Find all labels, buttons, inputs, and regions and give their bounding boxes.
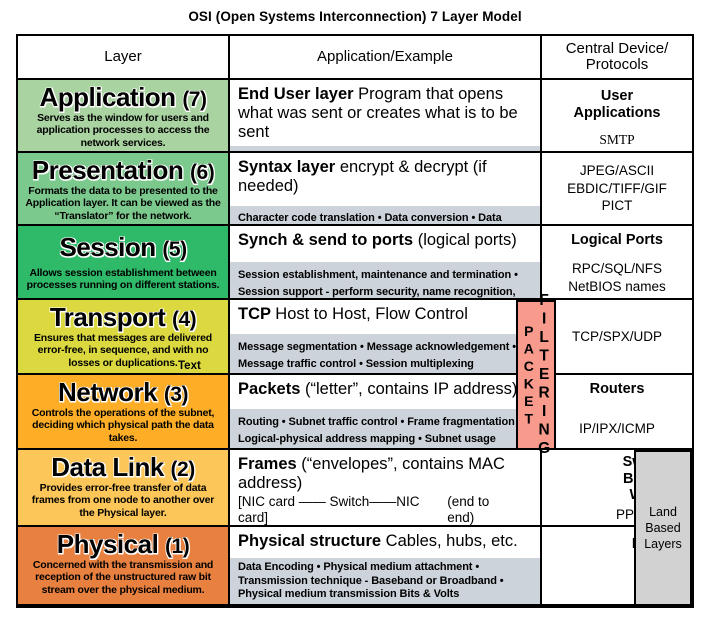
application-cell-physical: Physical structure Cables, hubs, etc. Da…: [230, 527, 542, 604]
layer-number-session: (5): [162, 238, 186, 261]
layer-name-application: Application: [40, 82, 176, 112]
application-head-session: Synch & send to ports (logical ports): [230, 226, 540, 262]
layer-row-presentation: Presentation (6) Formats the data to be …: [18, 153, 692, 226]
layer-name-session: Session: [59, 232, 155, 262]
land-based-layers-text: Land Based Layers: [644, 504, 682, 553]
layer-cell-physical: Physical (1) Concerned with the transmis…: [18, 527, 230, 604]
application-cell-presentation: Syntax layer encrypt & decrypt (if neede…: [230, 153, 542, 224]
header-cell-application: Application/Example: [230, 36, 542, 78]
device-main-application: User Applications: [542, 80, 692, 122]
application-subline-datalink: [NIC card —— Switch——NIC card] (end to e…: [230, 494, 540, 525]
device-main-network: Routers: [542, 375, 692, 398]
application-head-physical: Physical structure Cables, hubs, etc.: [230, 527, 540, 558]
land-based-line2: Based: [644, 520, 682, 536]
layer-row-network: Network (3) Controls the operations of t…: [18, 375, 692, 450]
application-detail-session: Session establishment, maintenance and t…: [230, 262, 540, 298]
layer-description-network: Controls the operations of the subnet, d…: [18, 405, 228, 444]
application-head-application: End User layer Program that opens what w…: [230, 80, 540, 146]
application-detail-text: Character code translation • Data conver…: [238, 212, 502, 224]
layer-title-physical: Physical (1): [18, 527, 228, 557]
layer-cell-application: Application (7) Serves as the window for…: [18, 80, 230, 151]
header-label-device-line1: Central Device/: [566, 41, 669, 58]
page-title: OSI (Open Systems Interconnection) 7 Lay…: [0, 0, 710, 31]
application-head-bold: Physical structure: [238, 532, 381, 550]
layer-description-presentation: Formats the data to be presented to the …: [18, 183, 228, 222]
layer-title-session: Session (5): [18, 226, 228, 260]
application-detail-presentation: Character code translation • Data conver…: [230, 206, 540, 224]
land-based-line3: Layers: [644, 536, 682, 552]
layer-title-network: Network (3): [18, 375, 228, 405]
device-line-1: TCP/SPX/UDP: [572, 328, 662, 346]
layer-row-datalink: Data Link (2) Provides error-free transf…: [18, 450, 692, 527]
layer-name-presentation: Presentation: [32, 155, 184, 185]
land-based-layers-box: Land Based Layers: [634, 450, 692, 606]
layer-number-physical: (1): [165, 535, 189, 558]
device-sub-network: IP/IPX/ICMP: [542, 398, 692, 438]
application-head-light: (logical ports): [418, 231, 517, 249]
device-cell-session: Logical Ports RPC/SQL/NFS NetBIOS names: [542, 226, 692, 298]
device-cell-network: Routers IP/IPX/ICMP: [542, 375, 692, 448]
table-header-row: Layer Application/Example Central Device…: [18, 36, 692, 80]
device-line-2: EBDIC/TIFF/GIF: [567, 180, 667, 198]
layer-number-network: (3): [164, 383, 188, 406]
layer-name-transport: Transport: [50, 302, 165, 332]
device-sub-application: SMTP: [542, 122, 692, 149]
layer-name-datalink: Data Link: [51, 452, 164, 482]
layer-title-application: Application (7): [18, 80, 228, 110]
header-label-application: Application/Example: [317, 49, 453, 66]
application-head-bold: Syntax layer: [238, 158, 335, 176]
layer-name-physical: Physical: [57, 529, 159, 559]
layer-title-presentation: Presentation (6): [18, 153, 228, 183]
layer-row-transport: Transport (4) Ensures that messages are …: [18, 300, 692, 375]
packet-filtering-box: PACKET FILTERING: [516, 300, 556, 450]
layer-description-datalink: Provides error-free transfer of data fra…: [18, 480, 228, 519]
layer-number-presentation: (6): [190, 161, 214, 184]
osi-layer-table: Layer Application/Example Central Device…: [16, 34, 694, 608]
device-sub-session: RPC/SQL/NFS NetBIOS names: [542, 249, 692, 296]
application-detail-network: Routing • Subnet traffic control • Frame…: [230, 409, 540, 448]
land-based-line1: Land: [644, 504, 682, 520]
application-cell-network: Packets (“letter”, contains IP address) …: [230, 375, 542, 448]
application-cell-session: Synch & send to ports (logical ports) Se…: [230, 226, 542, 298]
device-cell-application: User Applications SMTP: [542, 80, 692, 151]
layer-description-physical: Concerned with the transmission and rece…: [18, 557, 228, 596]
device-cell-transport: TCP/SPX/UDP: [542, 300, 692, 373]
layer-cell-network: Network (3) Controls the operations of t…: [18, 375, 230, 448]
device-line-2: NetBIOS names: [542, 278, 692, 296]
device-main-line2: Applications: [542, 105, 692, 122]
layer-row-session: Session (5) Allows session establishment…: [18, 226, 692, 300]
application-head-bold: TCP: [238, 305, 271, 323]
application-detail-physical: Data Encoding • Physical medium attachme…: [230, 558, 540, 604]
packet-filtering-word-filtering: FILTERING: [536, 292, 551, 459]
device-line-1: RPC/SQL/NFS: [542, 260, 692, 278]
device-line-1: JPEG/ASCII: [580, 162, 654, 180]
application-detail-application: Resource sharing • Remote file access • …: [230, 146, 540, 151]
header-label-layer: Layer: [104, 49, 142, 66]
header-cell-layer: Layer: [18, 36, 230, 78]
application-cell-datalink: Frames (“envelopes”, contains MAC addres…: [230, 450, 542, 525]
application-cell-application: End User layer Program that opens what w…: [230, 80, 542, 151]
device-main-session: Logical Ports: [542, 226, 692, 249]
application-detail-transport: Message segmentation • Message acknowled…: [230, 334, 540, 373]
device-line-3: PICT: [602, 197, 633, 215]
layer-number-datalink: (2): [171, 458, 195, 481]
application-subline-right: (end to end): [447, 494, 518, 525]
layer-cell-presentation: Presentation (6) Formats the data to be …: [18, 153, 230, 224]
header-cell-device: Central Device/ Protocols: [542, 36, 692, 78]
application-head-transport: TCP Host to Host, Flow Control: [230, 300, 540, 334]
header-label-device-line2: Protocols: [566, 57, 669, 74]
application-head-presentation: Syntax layer encrypt & decrypt (if neede…: [230, 153, 540, 206]
layer-number-application: (7): [182, 88, 206, 111]
stray-text-artifact: Text: [178, 360, 201, 372]
application-head-light: (“letter”, contains IP address): [305, 380, 517, 398]
application-head-bold: Frames: [238, 455, 297, 473]
application-subline-left: [NIC card —— Switch——NIC card]: [238, 494, 447, 525]
layer-description-session: Allows session establishment between pro…: [18, 260, 228, 292]
device-cell-presentation: JPEG/ASCII EBDIC/TIFF/GIF PICT: [542, 153, 692, 224]
packet-filtering-word-packet: PACKET: [521, 323, 534, 428]
application-head-datalink: Frames (“envelopes”, contains MAC addres…: [230, 450, 540, 494]
application-head-bold: Synch & send to ports: [238, 231, 413, 249]
layer-name-network: Network: [58, 377, 157, 407]
application-head-light: Cables, hubs, etc.: [386, 532, 518, 550]
layer-description-application: Serves as the window for users and appli…: [18, 110, 228, 149]
application-head-light: Host to Host, Flow Control: [275, 305, 468, 323]
application-cell-transport: TCP Host to Host, Flow Control Message s…: [230, 300, 542, 373]
layer-number-transport: (4): [172, 308, 196, 331]
layer-row-physical: Physical (1) Concerned with the transmis…: [18, 527, 692, 606]
layer-cell-session: Session (5) Allows session establishment…: [18, 226, 230, 298]
layer-row-application: Application (7) Serves as the window for…: [18, 80, 692, 153]
application-head-bold: Packets: [238, 380, 300, 398]
application-head-bold: End User layer: [238, 85, 354, 103]
layer-title-datalink: Data Link (2): [18, 450, 228, 480]
layer-title-transport: Transport (4): [18, 300, 228, 330]
layer-cell-datalink: Data Link (2) Provides error-free transf…: [18, 450, 230, 525]
device-main-line1: User: [542, 88, 692, 105]
application-head-network: Packets (“letter”, contains IP address): [230, 375, 540, 409]
